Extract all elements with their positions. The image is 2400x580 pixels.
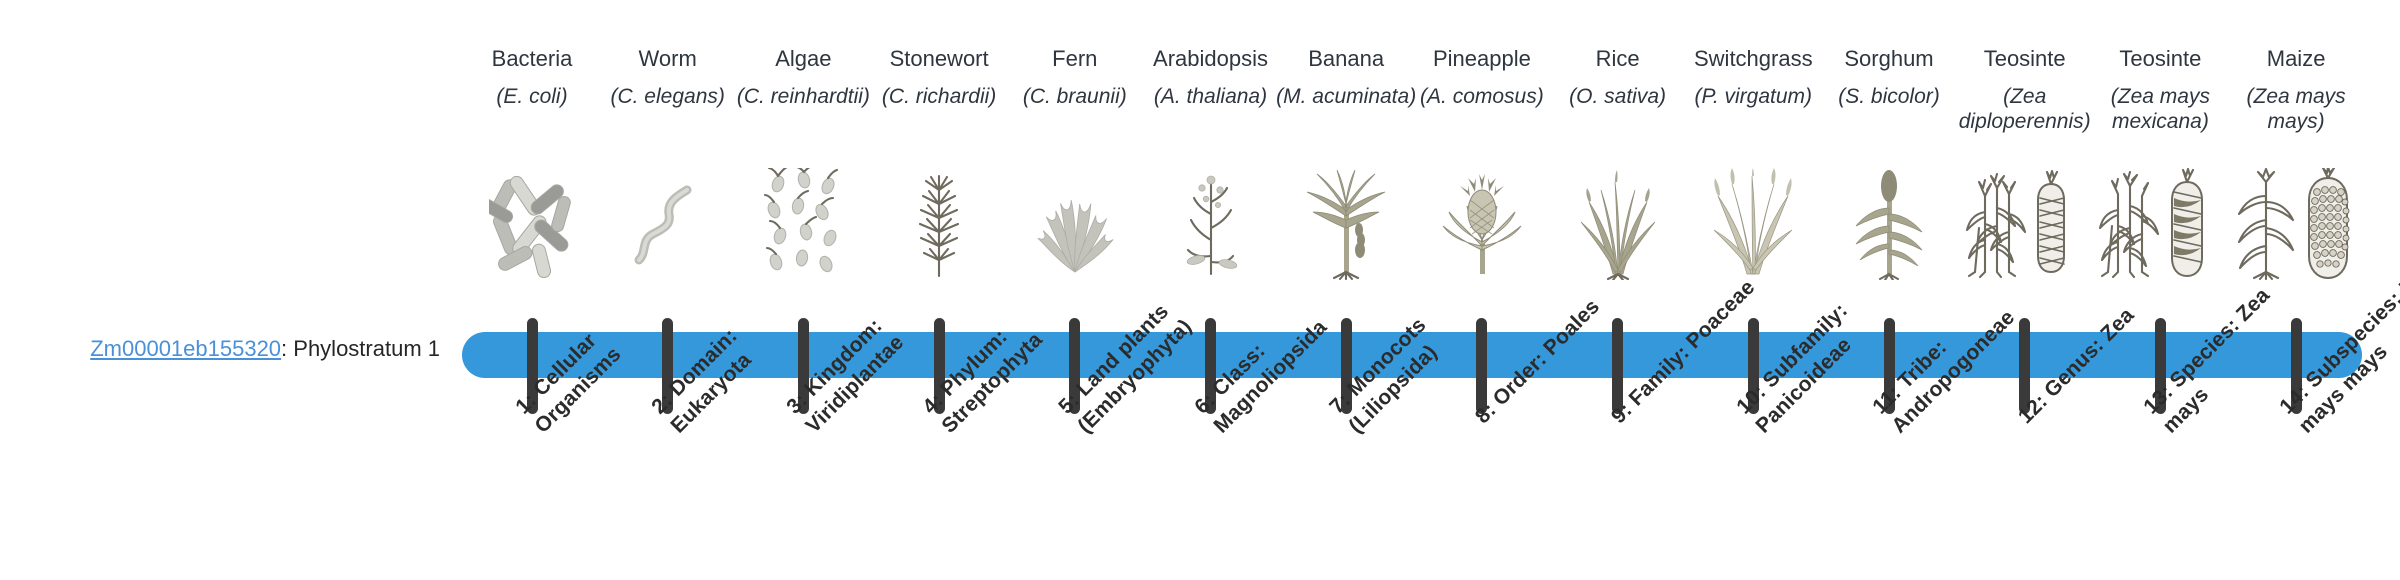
phylostratum-column-4: Stonewort(C. richardii) 4: Phylum: Strep… <box>864 0 1014 580</box>
organism-common-name: Teosinte <box>1950 46 2100 72</box>
phylostratum-column-13: Teosinte(Zea mays mexicana) <box>2085 0 2235 580</box>
phylostratum-column-7: Banana(M. acuminata) 7: Monocots (Liliop <box>1271 0 1421 580</box>
phylostratum-column-6: Arabidopsis(A. thaliana) 6: Class: Magno… <box>1136 0 1286 580</box>
organism-scientific-name: (O. sativa) <box>1543 84 1693 109</box>
phylostratum-column-5: Fern(C. braunii) 5: Land plants (Embryop… <box>1000 0 1150 580</box>
organism-common-name: Worm <box>593 46 743 72</box>
stonewort-icon <box>864 168 1014 286</box>
organism-common-name: Arabidopsis <box>1136 46 1286 72</box>
organism-common-name: Maize <box>2221 46 2371 72</box>
phylostratum-column-2: Worm(C. elegans) 2: Domain: Eukaryota <box>593 0 743 580</box>
phylostratum-column-8: Pineapple(A. comosus) 8: Order: Poales <box>1407 0 1557 580</box>
organism-scientific-name: (E. coli) <box>457 84 607 109</box>
phylostratum-column-1: Bacteria(E. coli) 1: Cellular Organisms <box>457 0 607 580</box>
phylostratum-figure: Zm00001eb155320: Phylostratum 1 Bacteria… <box>0 0 2400 580</box>
organism-common-name: Bacteria <box>457 46 607 72</box>
phylostratum-column-11: Sorghum(S. bicolor) 11: Tribe: Andropogo… <box>1814 0 1964 580</box>
bacteria-icon <box>457 168 607 286</box>
organism-scientific-name: (C. reinhardtii) <box>728 84 878 109</box>
phylostratum-column-9: Rice(O. sativa) 9: Family: Poaceae <box>1543 0 1693 580</box>
worm-icon <box>593 168 743 286</box>
gene-id-link[interactable]: Zm00001eb155320 <box>90 336 281 361</box>
teosinte-mexicana-icon <box>2085 168 2235 286</box>
organism-scientific-name: (Zea diploperennis) <box>1950 84 2100 134</box>
gene-caption: Zm00001eb155320: Phylostratum 1 <box>40 336 440 362</box>
organism-scientific-name: (C. braunii) <box>1000 84 1150 109</box>
organism-scientific-name: (A. comosus) <box>1407 84 1557 109</box>
organism-common-name: Switchgrass <box>1678 46 1828 72</box>
sorghum-icon <box>1814 168 1964 286</box>
phylostratum-column-12: Teosinte(Zea diploperennis) 12: Genus: Z… <box>1950 0 2100 580</box>
switchgrass-icon <box>1678 168 1828 286</box>
organism-scientific-name: (S. bicolor) <box>1814 84 1964 109</box>
organism-common-name: Banana <box>1271 46 1421 72</box>
organism-common-name: Fern <box>1000 46 1150 72</box>
organism-common-name: Teosinte <box>2085 46 2235 72</box>
gene-caption-suffix: : Phylostratum 1 <box>281 336 440 361</box>
phylostratum-column-10: Switchgrass(P. virgatum) 10: Subfamily: … <box>1678 0 1828 580</box>
teosinte-diploperennis-icon <box>1950 168 2100 286</box>
organism-scientific-name: (Zea mays mays) <box>2221 84 2371 134</box>
organism-scientific-name: (A. thaliana) <box>1136 84 1286 109</box>
organism-common-name: Stonewort <box>864 46 1014 72</box>
organism-scientific-name: (Zea mays mexicana) <box>2085 84 2235 134</box>
phylostratum-column-3: Algae(C. reinhardtii) 3: Kingdom: Viridi… <box>728 0 878 580</box>
organism-scientific-name: (C. elegans) <box>593 84 743 109</box>
phylostratum-column-14: Maize(Zea mays mays) <box>2221 0 2371 580</box>
organism-common-name: Sorghum <box>1814 46 1964 72</box>
organism-scientific-name: (M. acuminata) <box>1271 84 1421 109</box>
rice-icon <box>1543 168 1693 286</box>
maize-icon <box>2221 168 2371 286</box>
pineapple-icon <box>1407 168 1557 286</box>
banana-icon <box>1271 168 1421 286</box>
algae-icon <box>728 168 878 286</box>
fern-icon <box>1000 168 1150 286</box>
organism-common-name: Pineapple <box>1407 46 1557 72</box>
arabidopsis-icon <box>1136 168 1286 286</box>
organism-common-name: Rice <box>1543 46 1693 72</box>
organism-common-name: Algae <box>728 46 878 72</box>
organism-scientific-name: (C. richardii) <box>864 84 1014 109</box>
organism-scientific-name: (P. virgatum) <box>1678 84 1828 109</box>
